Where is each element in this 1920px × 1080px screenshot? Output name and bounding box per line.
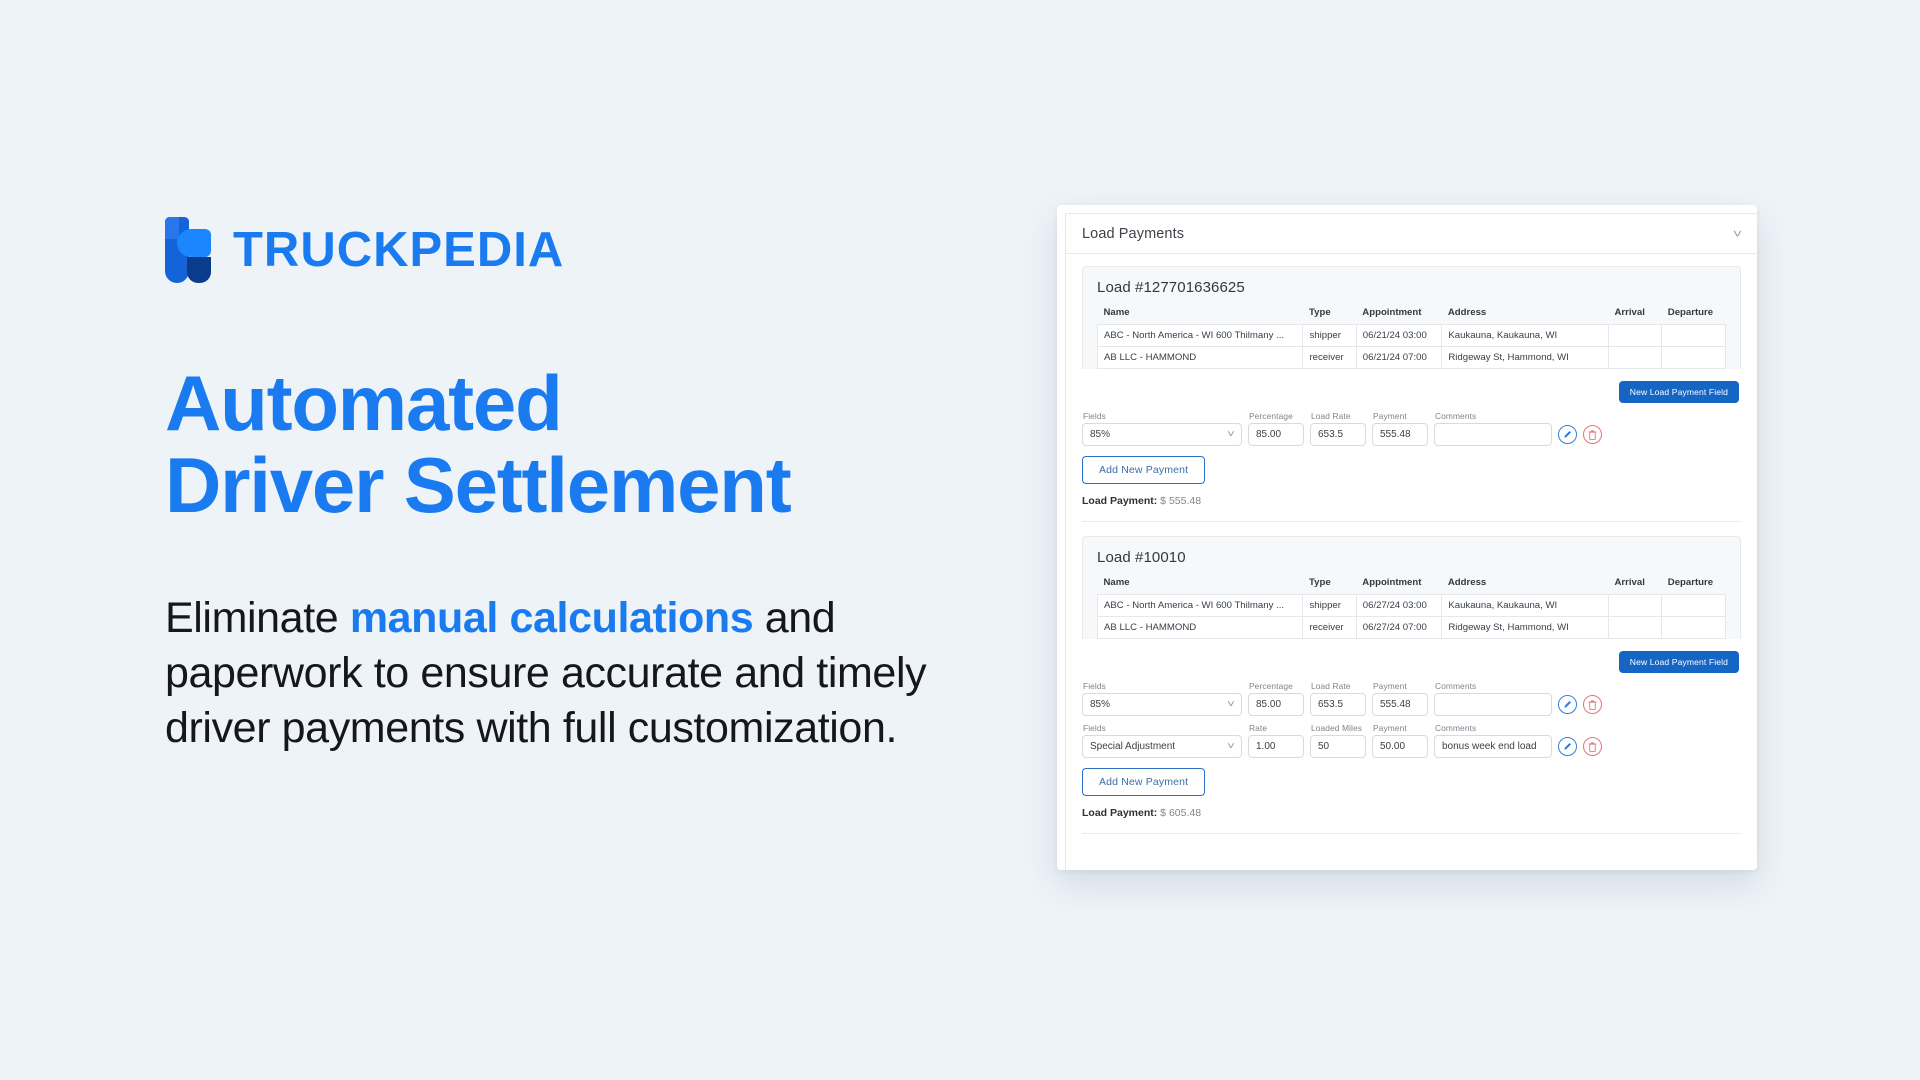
payment-field-group: Loaded Miles50 xyxy=(1310,723,1366,758)
payment-field-group: Percentage85.00 xyxy=(1248,411,1304,446)
section-divider xyxy=(1082,521,1741,522)
load-payments-panel-header[interactable]: Load Payments ˅ xyxy=(1066,214,1757,254)
payment-field-group: Commentsbonus week end load xyxy=(1434,723,1552,758)
load-stops-table: NameTypeAppointmentAddressArrivalDepartu… xyxy=(1097,577,1726,639)
cell-appointment: 06/27/24 03:00 xyxy=(1356,595,1442,617)
marketing-column: TRUCKPEDIA Automated Driver Settlement E… xyxy=(165,215,965,756)
app-window: Load Payments ˅ Load #127701636625NameTy… xyxy=(1065,213,1757,870)
load-title: Load #10010 xyxy=(1097,549,1726,566)
total-value: $ 555.48 xyxy=(1157,495,1201,507)
payment-input[interactable]: 50.00 xyxy=(1372,735,1428,758)
field-label: Load Rate xyxy=(1310,681,1366,691)
table-row[interactable]: AB LLC - HAMMONDreceiver06/21/24 07:00Ri… xyxy=(1098,347,1726,369)
table-row[interactable]: AB LLC - HAMMONDreceiver06/27/24 07:00Ri… xyxy=(1098,617,1726,639)
cell-address: Kaukauna, Kaukauna, WI xyxy=(1442,595,1609,617)
payment-field-group: Comments xyxy=(1434,411,1552,446)
panel-title: Load Payments xyxy=(1082,226,1184,242)
app-screenshot-card: Load Payments ˅ Load #127701636625NameTy… xyxy=(1057,205,1757,870)
rate-percentage-input[interactable]: 1.00 xyxy=(1248,735,1304,758)
headline-line-2: Driver Settlement xyxy=(165,445,965,527)
section-divider xyxy=(1082,833,1741,834)
comments-input[interactable] xyxy=(1434,423,1552,446)
sub-copy: Eliminate manual calculations and paperw… xyxy=(165,591,965,756)
row-action-buttons xyxy=(1558,695,1602,716)
row-action-buttons xyxy=(1558,425,1602,446)
payment-field-group: Comments xyxy=(1434,681,1552,716)
new-load-payment-field-button[interactable]: New Load Payment Field xyxy=(1619,651,1739,673)
new-field-row: New Load Payment Field xyxy=(1082,651,1741,673)
cell-type: receiver xyxy=(1303,617,1356,639)
payment-field-group: FieldsSpecial Adjustment˅ xyxy=(1082,723,1242,758)
load-title: Load #127701636625 xyxy=(1097,279,1726,296)
add-new-payment-button[interactable]: Add New Payment xyxy=(1082,768,1205,796)
chevron-down-icon: ˅ xyxy=(1227,430,1235,440)
column-header-departure: Departure xyxy=(1662,307,1726,325)
cell-arrival xyxy=(1608,347,1661,369)
cell-address: Kaukauna, Kaukauna, WI xyxy=(1442,325,1609,347)
row-action-buttons xyxy=(1558,737,1602,758)
cell-departure xyxy=(1662,347,1726,369)
table-row[interactable]: ABC - North America - WI 600 Thilmany ..… xyxy=(1098,325,1726,347)
field-label: Percentage xyxy=(1248,681,1304,691)
load-rate-input[interactable]: 653.5 xyxy=(1310,423,1366,446)
field-label: Comments xyxy=(1434,723,1552,733)
load-payment-editor: New Load Payment FieldFields85%˅Percenta… xyxy=(1082,639,1741,819)
load-block: Load #127701636625NameTypeAppointmentAdd… xyxy=(1082,266,1741,522)
field-label: Load Rate xyxy=(1310,411,1366,421)
load-rate-input[interactable]: 50 xyxy=(1310,735,1366,758)
cell-type: receiver xyxy=(1303,347,1356,369)
payment-row: Fields85%˅Percentage85.00Load Rate653.5P… xyxy=(1082,411,1741,446)
payment-field-select[interactable]: 85%˅ xyxy=(1082,423,1242,446)
payment-field-group: Payment555.48 xyxy=(1372,681,1428,716)
field-label: Fields xyxy=(1082,411,1242,421)
table-row[interactable]: ABC - North America - WI 600 Thilmany ..… xyxy=(1098,595,1726,617)
comments-input[interactable]: bonus week end load xyxy=(1434,735,1552,758)
chevron-down-icon: ˅ xyxy=(1227,742,1235,752)
column-header-type: Type xyxy=(1303,577,1356,595)
cell-name: ABC - North America - WI 600 Thilmany ..… xyxy=(1098,595,1303,617)
column-header-appointment: Appointment xyxy=(1356,307,1442,325)
payment-field-group: Fields85%˅ xyxy=(1082,411,1242,446)
select-value: 85% xyxy=(1090,699,1110,710)
new-field-row: New Load Payment Field xyxy=(1082,381,1741,403)
column-header-departure: Departure xyxy=(1662,577,1726,595)
brand-logo: TRUCKPEDIA xyxy=(165,215,965,285)
select-value: 85% xyxy=(1090,429,1110,440)
load-block: Load #10010NameTypeAppointmentAddressArr… xyxy=(1082,536,1741,834)
field-label: Loaded Miles xyxy=(1310,723,1366,733)
brand-name: TRUCKPEDIA xyxy=(233,226,564,275)
pencil-icon[interactable] xyxy=(1558,695,1577,714)
load-rate-input[interactable]: 653.5 xyxy=(1310,693,1366,716)
cell-appointment: 06/21/24 03:00 xyxy=(1356,325,1442,347)
load-payments-panel-body: Load #127701636625NameTypeAppointmentAdd… xyxy=(1066,254,1757,834)
total-label: Load Payment: xyxy=(1082,495,1157,507)
rate-percentage-input[interactable]: 85.00 xyxy=(1248,423,1304,446)
comments-input[interactable] xyxy=(1434,693,1552,716)
payment-field-group: Load Rate653.5 xyxy=(1310,411,1366,446)
column-header-address: Address xyxy=(1442,577,1609,595)
field-label: Payment xyxy=(1372,723,1428,733)
sub-copy-part-1: Eliminate xyxy=(165,594,350,642)
cell-type: shipper xyxy=(1303,325,1356,347)
column-header-name: Name xyxy=(1098,307,1303,325)
field-label: Comments xyxy=(1434,681,1552,691)
payment-input[interactable]: 555.48 xyxy=(1372,693,1428,716)
load-payment-editor: New Load Payment FieldFields85%˅Percenta… xyxy=(1082,369,1741,507)
column-header-address: Address xyxy=(1442,307,1609,325)
load-payment-total: Load Payment: $ 555.48 xyxy=(1082,495,1741,507)
cell-name: AB LLC - HAMMOND xyxy=(1098,347,1303,369)
payment-field-group: Rate1.00 xyxy=(1248,723,1304,758)
payment-field-group: Payment50.00 xyxy=(1372,723,1428,758)
cell-departure xyxy=(1662,617,1726,639)
payment-field-group: Payment555.48 xyxy=(1372,411,1428,446)
field-label: Payment xyxy=(1372,411,1428,421)
cell-departure xyxy=(1662,325,1726,347)
trash-icon[interactable] xyxy=(1583,425,1602,444)
payment-row: Fields85%˅Percentage85.00Load Rate653.5P… xyxy=(1082,681,1741,716)
page-title: Automated Driver Settlement xyxy=(165,363,965,527)
headline-line-1: Automated xyxy=(165,363,965,445)
field-label: Comments xyxy=(1434,411,1552,421)
field-label: Payment xyxy=(1372,681,1428,691)
total-label: Load Payment: xyxy=(1082,807,1157,819)
payment-field-group: Load Rate653.5 xyxy=(1310,681,1366,716)
column-header-arrival: Arrival xyxy=(1608,307,1661,325)
column-header-type: Type xyxy=(1303,307,1356,325)
payment-field-select[interactable]: Special Adjustment˅ xyxy=(1082,735,1242,758)
cell-arrival xyxy=(1608,617,1661,639)
sub-copy-accent: manual calculations xyxy=(350,594,753,642)
trash-icon[interactable] xyxy=(1583,695,1602,714)
select-value: Special Adjustment xyxy=(1090,741,1175,752)
trash-icon[interactable] xyxy=(1583,737,1602,756)
add-new-payment-button[interactable]: Add New Payment xyxy=(1082,456,1205,484)
cell-appointment: 06/27/24 07:00 xyxy=(1356,617,1442,639)
truckpedia-t-mark-icon xyxy=(165,217,211,283)
cell-name: ABC - North America - WI 600 Thilmany ..… xyxy=(1098,325,1303,347)
load-summary-card: Load #10010NameTypeAppointmentAddressArr… xyxy=(1082,536,1741,639)
cell-address: Ridgeway St, Hammond, WI xyxy=(1442,347,1609,369)
payment-field-group: Fields85%˅ xyxy=(1082,681,1242,716)
cell-appointment: 06/21/24 07:00 xyxy=(1356,347,1442,369)
cell-arrival xyxy=(1608,325,1661,347)
cell-arrival xyxy=(1608,595,1661,617)
pencil-icon[interactable] xyxy=(1558,425,1577,444)
cell-type: shipper xyxy=(1303,595,1356,617)
table-header-row: NameTypeAppointmentAddressArrivalDepartu… xyxy=(1098,307,1726,325)
rate-percentage-input[interactable]: 85.00 xyxy=(1248,693,1304,716)
cell-address: Ridgeway St, Hammond, WI xyxy=(1442,617,1609,639)
total-value: $ 605.48 xyxy=(1157,807,1201,819)
payment-field-group: Percentage85.00 xyxy=(1248,681,1304,716)
chevron-down-icon[interactable]: ˅ xyxy=(1733,228,1742,240)
payment-input[interactable]: 555.48 xyxy=(1372,423,1428,446)
new-load-payment-field-button[interactable]: New Load Payment Field xyxy=(1619,381,1739,403)
table-header-row: NameTypeAppointmentAddressArrivalDepartu… xyxy=(1098,577,1726,595)
load-stops-table: NameTypeAppointmentAddressArrivalDepartu… xyxy=(1097,307,1726,369)
field-label: Fields xyxy=(1082,723,1242,733)
field-label: Percentage xyxy=(1248,411,1304,421)
payment-row: FieldsSpecial Adjustment˅Rate1.00Loaded … xyxy=(1082,723,1741,758)
load-payment-total: Load Payment: $ 605.48 xyxy=(1082,807,1741,819)
chevron-down-icon: ˅ xyxy=(1227,700,1235,710)
cell-name: AB LLC - HAMMOND xyxy=(1098,617,1303,639)
load-summary-card: Load #127701636625NameTypeAppointmentAdd… xyxy=(1082,266,1741,369)
cell-departure xyxy=(1662,595,1726,617)
column-header-name: Name xyxy=(1098,577,1303,595)
column-header-arrival: Arrival xyxy=(1608,577,1661,595)
field-label: Rate xyxy=(1248,723,1304,733)
payment-field-select[interactable]: 85%˅ xyxy=(1082,693,1242,716)
pencil-icon[interactable] xyxy=(1558,737,1577,756)
field-label: Fields xyxy=(1082,681,1242,691)
column-header-appointment: Appointment xyxy=(1356,577,1442,595)
